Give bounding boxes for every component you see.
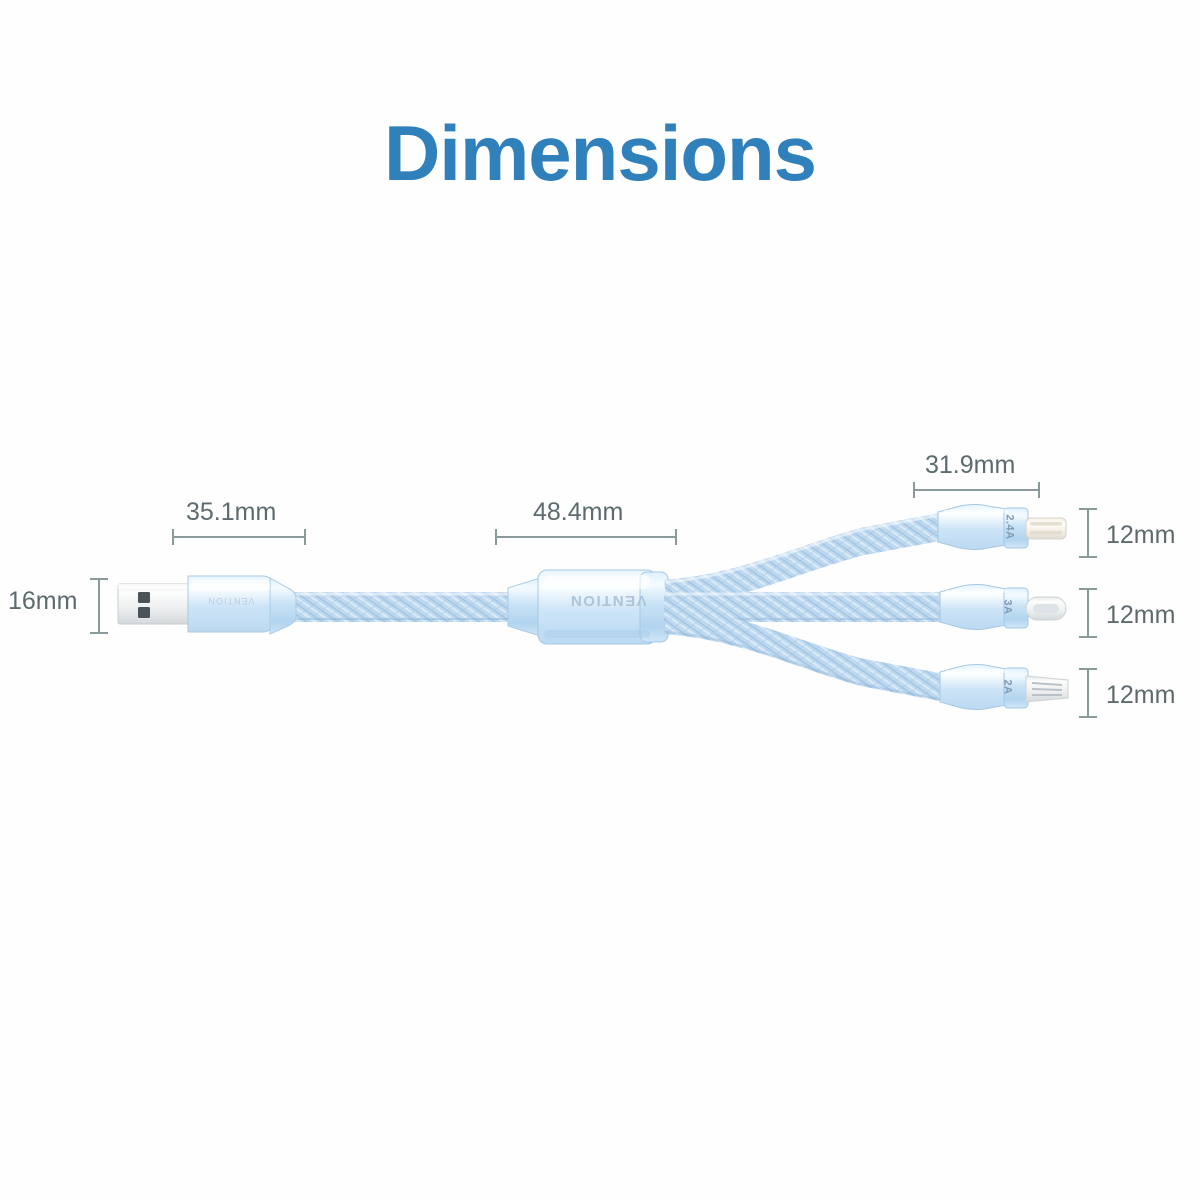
- usb-c-height-bracket: [1079, 588, 1097, 638]
- dimensions-diagram: Dimensions: [0, 0, 1200, 1200]
- micro-usb-height-bracket: [1079, 668, 1097, 718]
- usb-a-brand-text: VENTION: [196, 596, 266, 606]
- branch-cable-microusb: [664, 606, 945, 702]
- micro-usb-amperage-label: 2A: [1002, 679, 1014, 694]
- micro-usb-height-label: 12mm: [1106, 681, 1175, 710]
- usb-c-height-label: 12mm: [1106, 601, 1175, 630]
- hub-length-label: 48.4mm: [533, 498, 623, 527]
- branch-cable-lightning: [664, 512, 945, 608]
- lightning-connector: [938, 505, 1066, 550]
- hub-brand-text: VENTION: [560, 592, 656, 609]
- page-title: Dimensions: [0, 108, 1200, 199]
- usb-c-amperage-label: 3A: [1002, 599, 1014, 614]
- tip-length-bracket: [913, 482, 1040, 498]
- usb-a-height-bracket: [90, 578, 108, 634]
- tip-length-label: 31.9mm: [925, 451, 1015, 480]
- branch-cable-usbc: [664, 592, 948, 622]
- usb-a-length-bracket: [172, 529, 306, 545]
- lightning-height-label: 12mm: [1106, 521, 1175, 550]
- lightning-height-bracket: [1079, 508, 1097, 558]
- lightning-amperage-label: 2.4A: [1004, 514, 1016, 539]
- main-cable-segment: [280, 592, 520, 622]
- usb-a-height-label: 16mm: [8, 587, 77, 616]
- hub-length-bracket: [495, 529, 677, 545]
- usb-a-length-label: 35.1mm: [186, 498, 276, 527]
